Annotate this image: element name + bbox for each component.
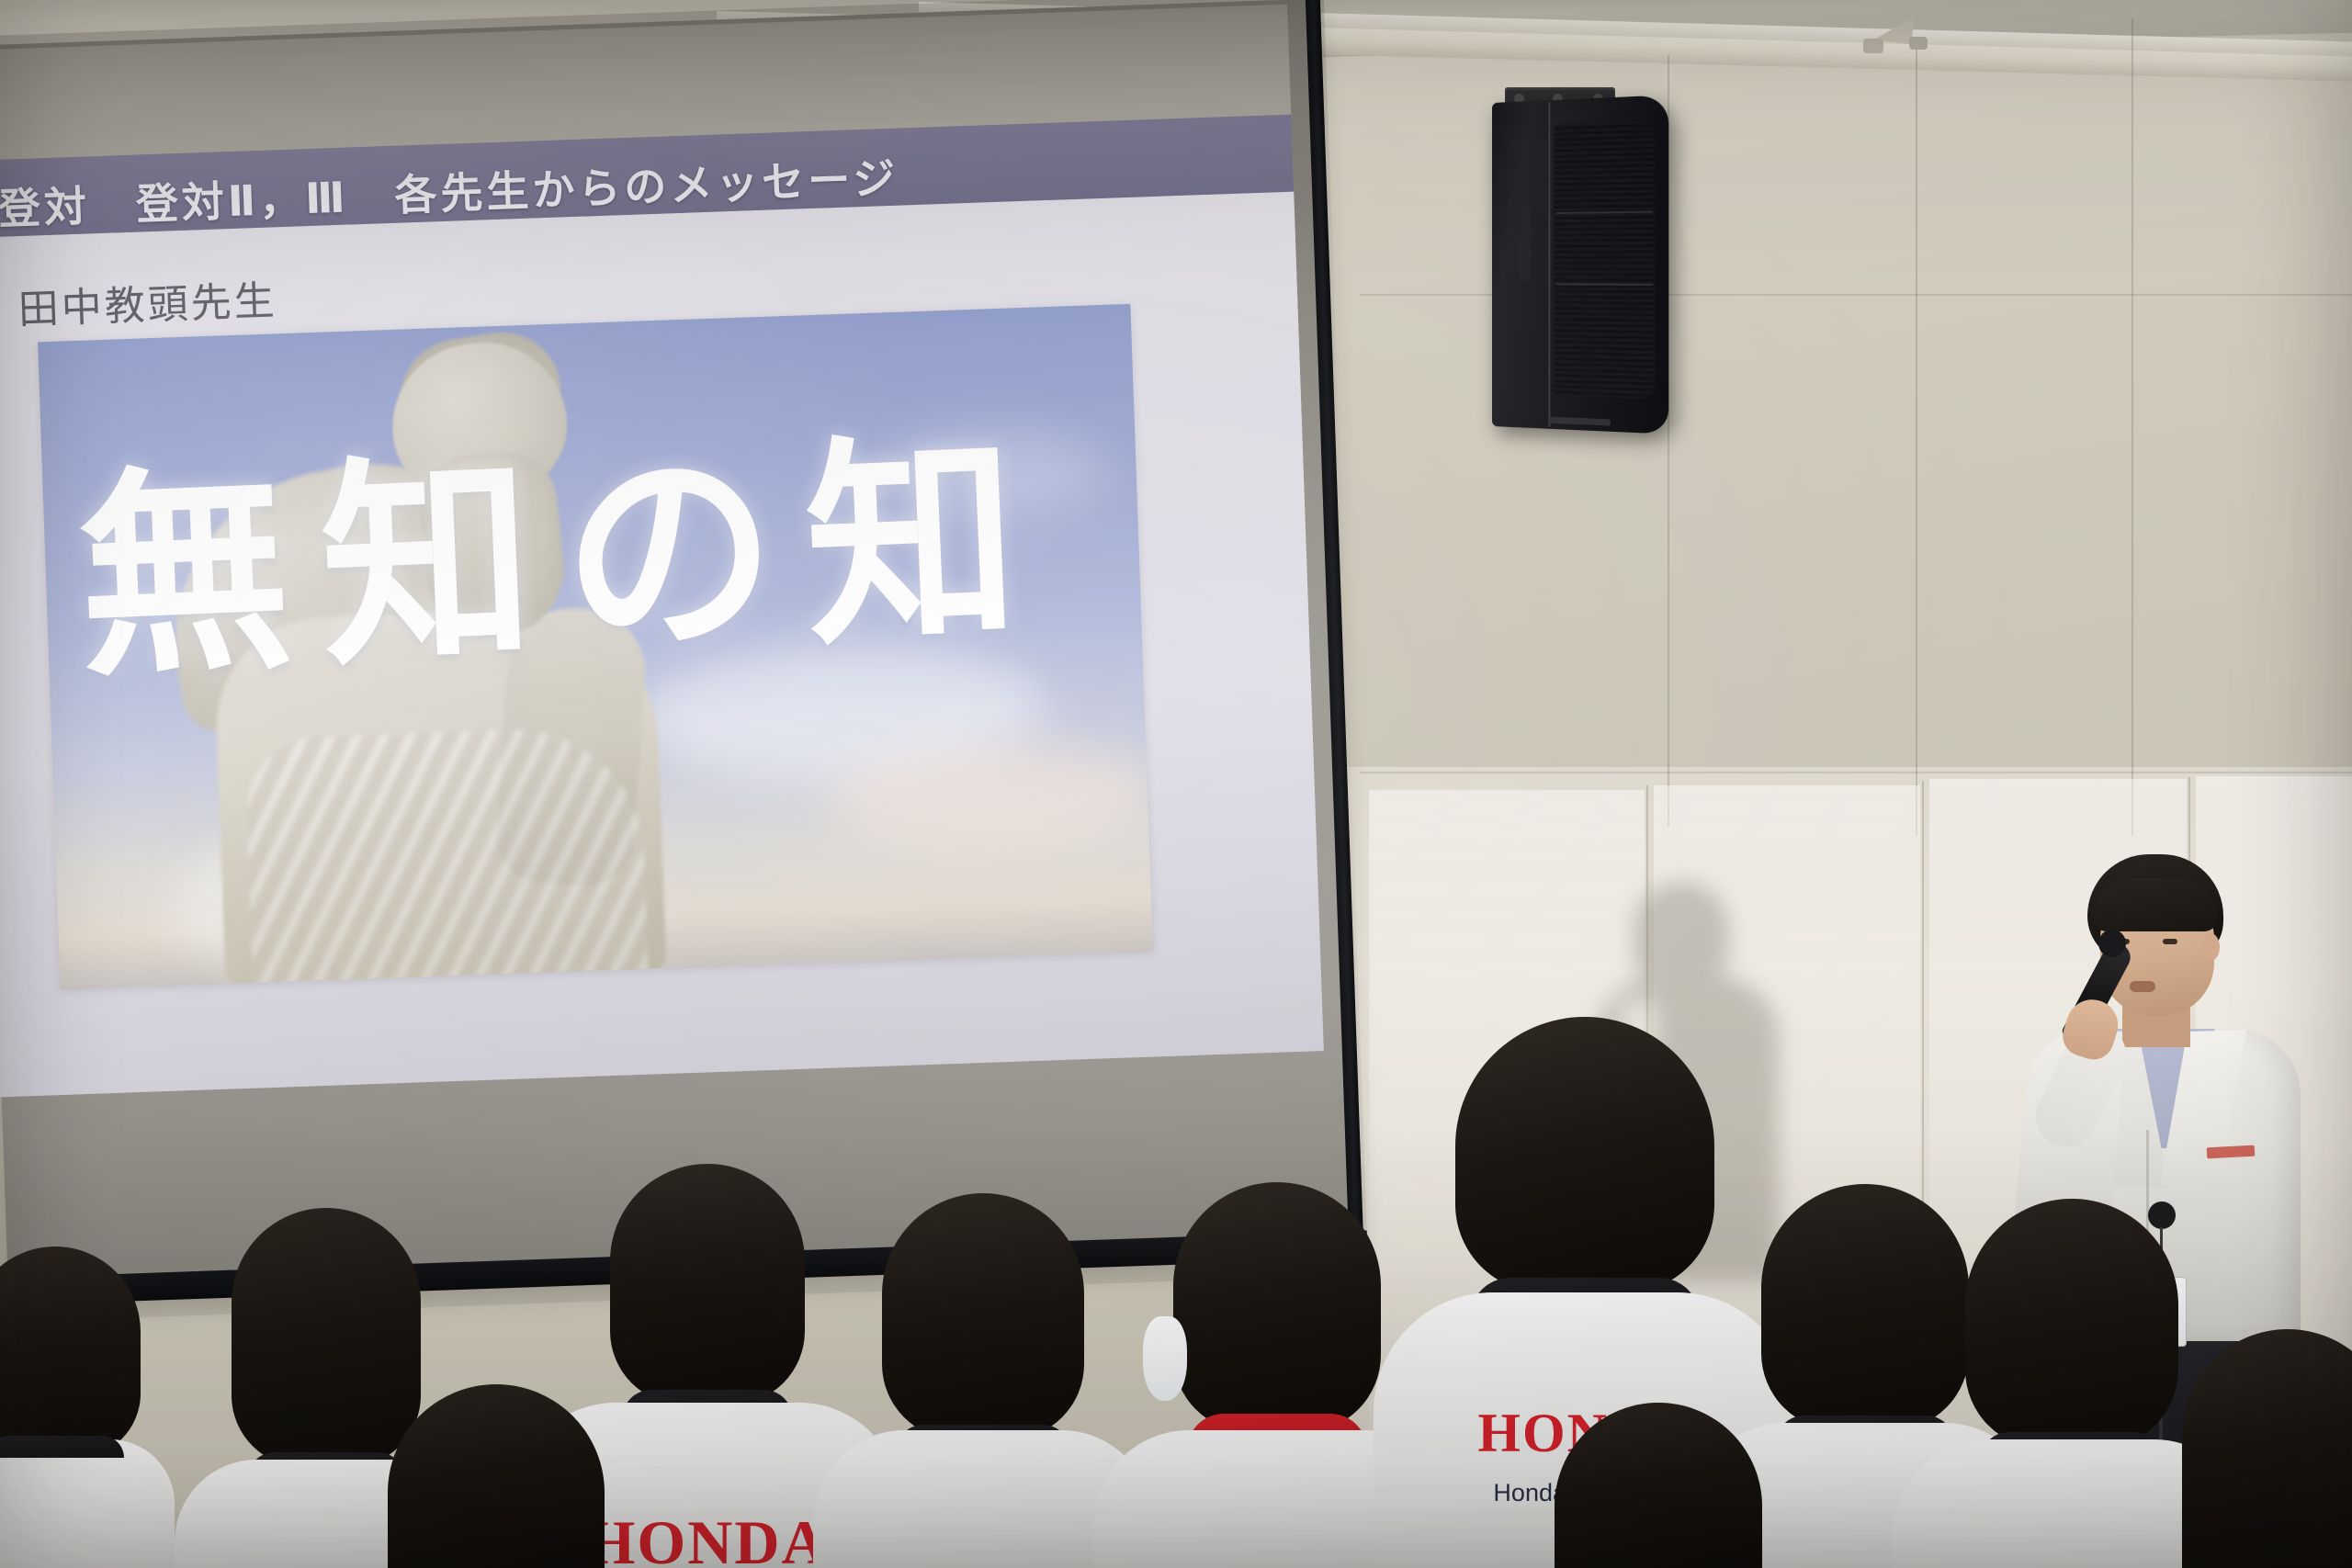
calligraphy-text: 無知の知 [74, 427, 1112, 690]
slide-photo: 無知の知 [38, 304, 1153, 989]
list-item [0, 1292, 147, 1568]
projected-slide: ら登対 登対Ⅱ，Ⅲ 各先生からのメッセージ 田中教頭先生 [0, 5, 1324, 1100]
list-item [1948, 1201, 2196, 1568]
list-item [2187, 1348, 2352, 1568]
list-item [1148, 1182, 1406, 1568]
line-array-speaker [1492, 95, 1668, 434]
list-item [1553, 1421, 1764, 1568]
slide-subtitle-text: 田中教頭先生 [17, 267, 278, 335]
presentation-hall-scene: ら登対 登対Ⅱ，Ⅲ 各先生からのメッセージ 田中教頭先生 [0, 0, 2352, 1568]
wall-bracket-foot [1863, 39, 1883, 53]
projection-screen: ら登対 登対Ⅱ，Ⅲ 各先生からのメッセージ 田中教頭先生 [0, 0, 1387, 1340]
wall-seam-horizontal [1360, 772, 2352, 773]
wall-seam [2131, 18, 2133, 836]
list-item [864, 1201, 1102, 1568]
list-item: HONDA [570, 1173, 845, 1568]
honda-wordmark: HONDA [586, 1506, 828, 1568]
face-mask [1143, 1316, 1187, 1401]
wall-seam [1916, 37, 1917, 836]
list-item [386, 1403, 606, 1568]
wall-bracket-foot [1909, 37, 1928, 50]
